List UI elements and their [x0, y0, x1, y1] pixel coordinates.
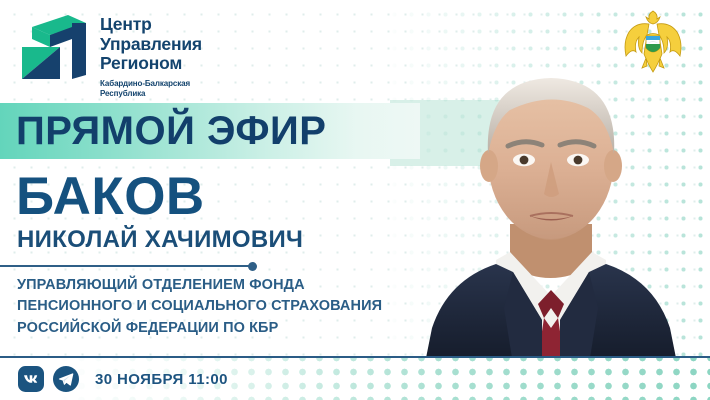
- person-job-title: УПРАВЛЯЮЩИЙ ОТДЕЛЕНИЕМ ФОНДА ПЕНСИОННОГО…: [17, 275, 417, 339]
- divider-rule-with-dot: [0, 262, 258, 271]
- live-banner: ПРЯМОЙ ЭФИР: [0, 103, 420, 159]
- job-title-line-1: УПРАВЛЯЮЩИЙ ОТДЕЛЕНИЕМ ФОНДА: [17, 275, 417, 296]
- vk-icon[interactable]: [18, 366, 44, 392]
- logo-region-line-2: Республика: [100, 89, 202, 99]
- footer-band: 30 НОЯБРЯ 11:00: [0, 356, 710, 400]
- cur-logo: Центр Управления Регионом Кабардино-Балк…: [16, 13, 202, 98]
- divider-bar: [0, 265, 252, 267]
- logo-region-line-1: Кабардино-Балкарская: [100, 79, 202, 89]
- logo-name-line-3: Регионом: [100, 54, 202, 74]
- broadcast-announcement-card: Центр Управления Регионом Кабардино-Балк…: [0, 0, 710, 400]
- job-title-line-3: РОССИЙСКОЙ ФЕДЕРАЦИИ ПО КБР: [17, 318, 417, 339]
- logo-name-line-1: Центр: [100, 15, 202, 35]
- live-label: ПРЯМОЙ ЭФИР: [0, 111, 326, 151]
- cur-cube-logo-icon: [16, 13, 88, 81]
- person-given-patronymic: НИКОЛАЙ ХАЧИМОВИЧ: [17, 228, 303, 252]
- job-title-line-2: ПЕНСИОННОГО И СОЦИАЛЬНОГО СТРАХОВАНИЯ: [17, 296, 417, 317]
- person-surname: БАКОВ: [16, 170, 205, 223]
- kabardino-balkaria-coat-of-arms-icon: [618, 6, 688, 78]
- telegram-icon[interactable]: [53, 366, 79, 392]
- broadcast-schedule: 30 НОЯБРЯ 11:00: [95, 371, 228, 388]
- divider-dot: [248, 262, 257, 271]
- logo-name-line-2: Управления: [100, 35, 202, 55]
